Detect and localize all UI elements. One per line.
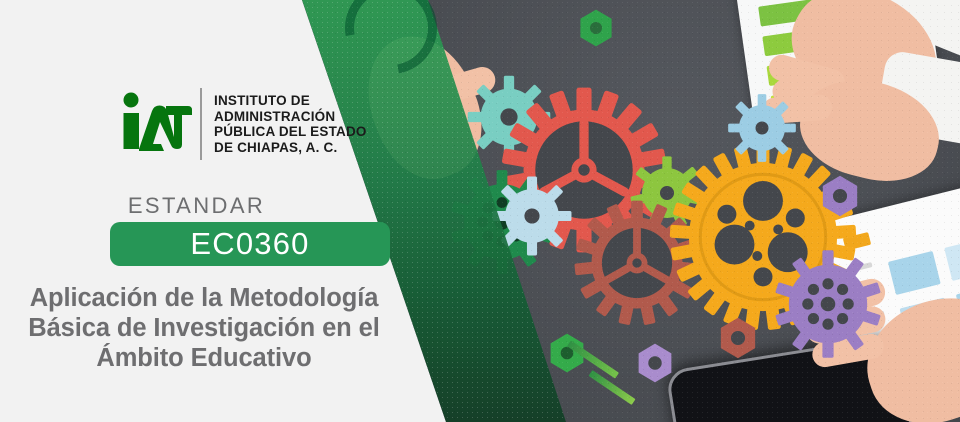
institute-line-3: PÚBLICA DEL ESTADO — [214, 124, 367, 140]
standard-code-badge: EC0360 — [110, 222, 390, 266]
course-title: Aplicación de la Metodología Básica de I… — [16, 283, 392, 373]
institute-name: INSTITUTO DE ADMINISTRACIÓN PÚBLICA DEL … — [214, 93, 367, 155]
logo-divider — [200, 88, 202, 160]
institute-line-4: DE CHIAPAS, A. C. — [214, 140, 367, 156]
institute-logo-block: INSTITUTO DE ADMINISTRACIÓN PÚBLICA DEL … — [118, 88, 367, 160]
left-panel: INSTITUTO DE ADMINISTRACIÓN PÚBLICA DEL … — [0, 0, 310, 422]
standard-code-text: EC0360 — [190, 228, 309, 261]
standard-label: ESTANDAR — [0, 193, 393, 219]
course-banner: INSTITUTO DE ADMINISTRACIÓN PÚBLICA DEL … — [0, 0, 960, 422]
institute-line-2: ADMINISTRACIÓN — [214, 109, 367, 125]
course-title-line-3: Ámbito Educativo — [16, 343, 392, 373]
institute-line-1: INSTITUTO DE — [214, 93, 367, 109]
course-title-line-1: Aplicación de la Metodología — [16, 283, 392, 313]
iap-monogram-icon — [118, 89, 192, 159]
course-title-line-2: Básica de Investigación en el — [16, 313, 392, 343]
